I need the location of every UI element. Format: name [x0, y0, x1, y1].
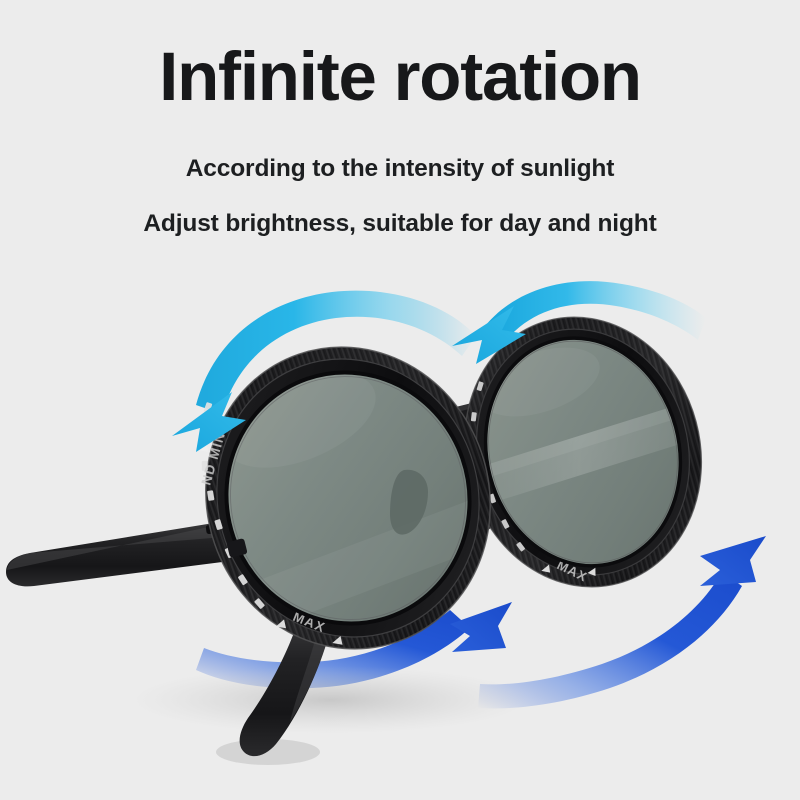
lens-left: ND MIN MAX — [165, 308, 531, 687]
page-title: Infinite rotation — [0, 0, 800, 115]
temple-arm-left — [6, 520, 238, 586]
product-shadow — [130, 666, 530, 734]
product-poster: Infinite rotation According to the inten… — [0, 0, 800, 800]
subheading-secondary: Adjust brightness, suitable for day and … — [0, 182, 800, 237]
marketing-copy: Infinite rotation According to the inten… — [0, 0, 800, 236]
subheading-primary: According to the intensity of sunlight — [0, 115, 800, 182]
